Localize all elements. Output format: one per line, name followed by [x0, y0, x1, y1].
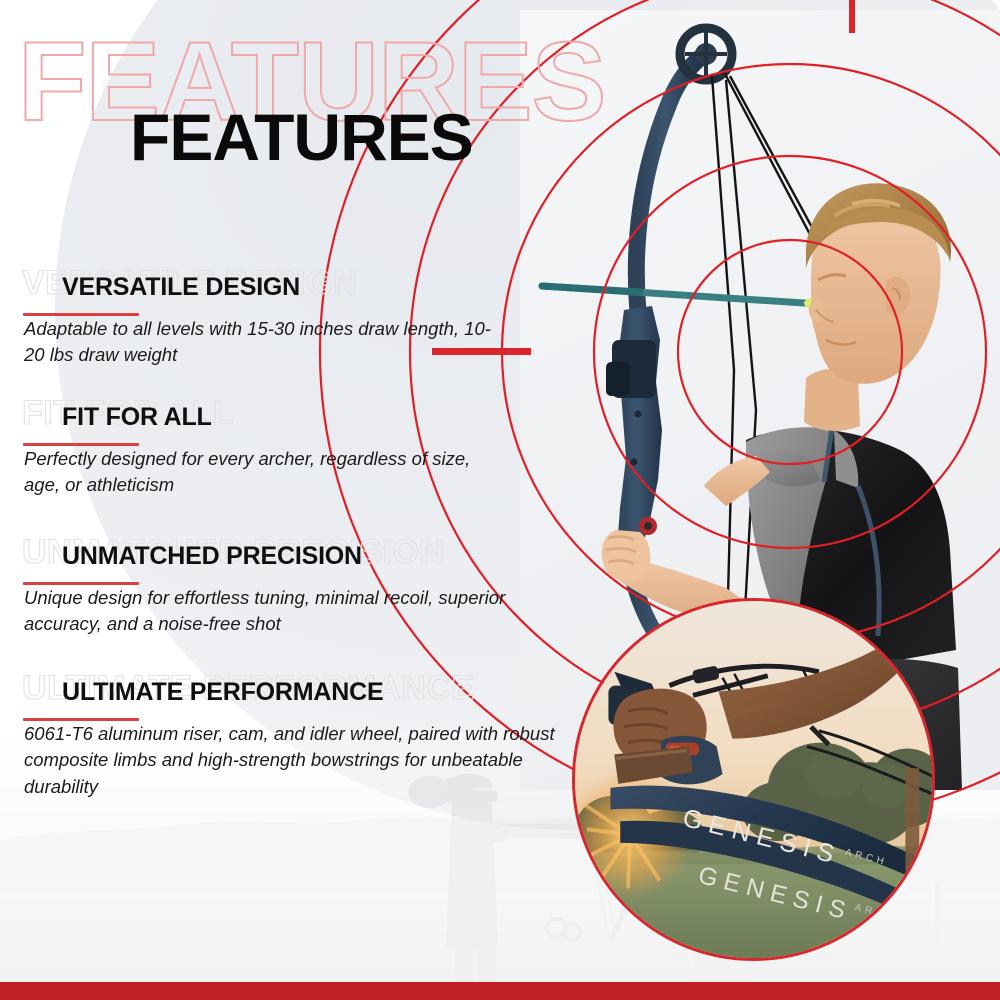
feature-heading: VERSATILE DESIGN: [0, 266, 600, 300]
feature-item: ULTIMATE PERFORMANCE ULTIMATE PERFORMANC…: [0, 671, 600, 821]
feature-heading: FIT FOR ALL: [0, 396, 600, 430]
bottom-accent-bar: [0, 982, 1000, 1000]
feature-body: 6061-T6 aluminum riser, cam, and idler w…: [24, 721, 569, 800]
feature-body: Unique design for effortless tuning, min…: [24, 585, 569, 638]
feature-underline-rule: [23, 443, 139, 446]
inset-product-photo: GENESIS ARCH GENESIS AR: [572, 598, 935, 961]
feature-heading: UNMATCHED PRECISION: [0, 535, 600, 569]
feature-underline-rule: [23, 718, 139, 721]
feature-item: UNMATCHED PRECISION UNMATCHED PRECISION …: [0, 535, 600, 665]
feature-heading: ULTIMATE PERFORMANCE: [0, 671, 600, 705]
feature-underline-rule: [23, 313, 139, 316]
crosshair-tick-vertical: [849, 0, 855, 33]
feature-list: VERSATILE DESIGN VERSATILE DESIGN Adapta…: [0, 266, 600, 827]
feature-underline-rule: [23, 582, 139, 585]
feature-item: FIT FOR ALL FIT FOR ALL Perfectly design…: [0, 396, 600, 529]
infographic-canvas: GENESIS ARCH GENESIS AR FEATURES FEATURE…: [0, 0, 1000, 1000]
feature-body: Perfectly designed for every archer, reg…: [24, 446, 494, 499]
feature-item: VERSATILE DESIGN VERSATILE DESIGN Adapta…: [0, 266, 600, 390]
feature-body: Adaptable to all levels with 15-30 inche…: [24, 316, 494, 369]
page-title: FEATURES: [130, 104, 473, 170]
